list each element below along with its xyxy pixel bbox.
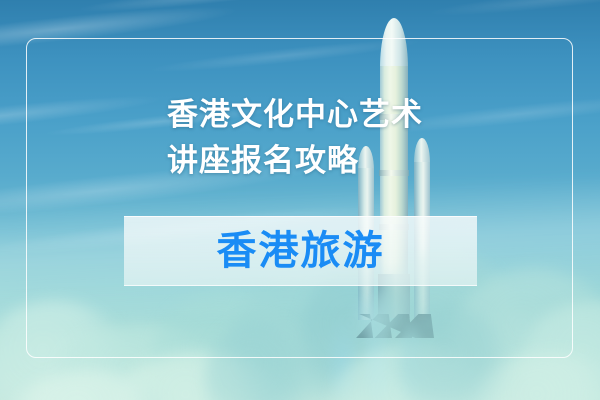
page-title: 香港文化中心艺术 讲座报名攻略 — [167, 92, 497, 184]
exhaust-plume-icon — [300, 288, 460, 400]
category-banner-label: 香港旅游 — [217, 231, 385, 271]
rocket-nose-cone-icon — [380, 18, 408, 70]
page-title-line-1: 香港文化中心艺术 — [167, 92, 497, 138]
poster-canvas: 香港文化中心艺术 讲座报名攻略 香港旅游 — [0, 0, 600, 400]
category-banner: 香港旅游 — [124, 216, 477, 286]
page-title-line-2: 讲座报名攻略 — [167, 138, 497, 184]
